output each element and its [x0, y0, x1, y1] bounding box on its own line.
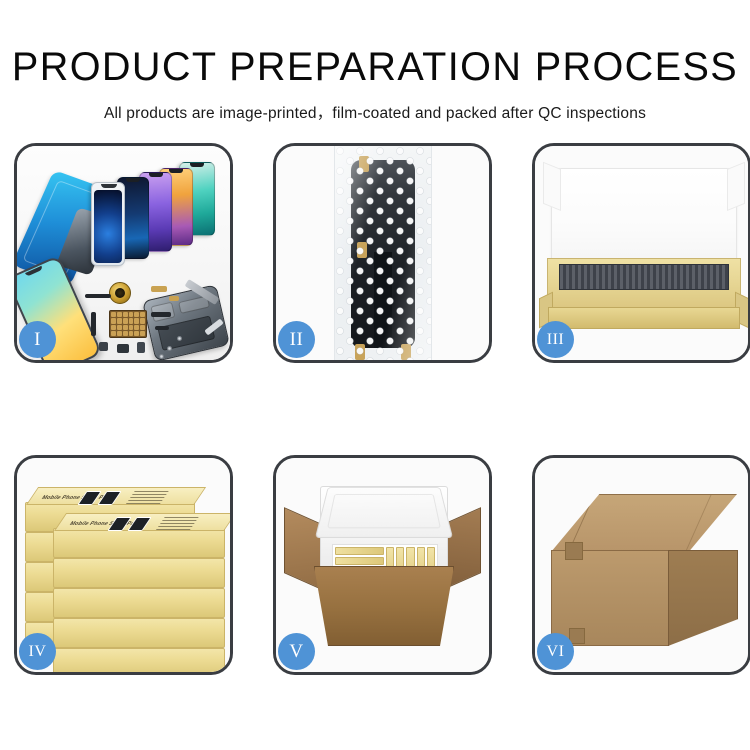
step-panel-3[interactable]: III — [532, 143, 750, 363]
step-badge-3: III — [537, 321, 574, 358]
flex-cable-icon — [91, 312, 96, 336]
small-component-icon — [117, 344, 129, 353]
screw-icon — [159, 354, 164, 359]
step-panel-6[interactable]: VI — [532, 455, 750, 675]
step-panel-1[interactable]: I — [14, 143, 233, 363]
bubble-wrap-bag-icon — [334, 146, 432, 360]
small-component-icon — [99, 342, 108, 351]
step-badge-6: VI — [537, 633, 574, 670]
step-badge-4: IV — [19, 633, 56, 670]
flex-cable-icon — [85, 294, 111, 298]
step-panel-4[interactable]: Mobile Phone Spare Parts Mobile Phone Sp… — [14, 455, 233, 675]
retail-box — [53, 558, 225, 588]
screen-glass-icon — [91, 182, 125, 266]
phone-fan-group — [87, 160, 229, 272]
gold-connector-icon — [169, 296, 179, 301]
step-badge-5: V — [278, 633, 315, 670]
retail-box — [53, 588, 225, 618]
step-badge-2: II — [278, 321, 315, 358]
foam-lid-icon — [315, 487, 453, 538]
flex-cable-icon — [151, 312, 171, 317]
gold-connector-icon — [151, 286, 167, 292]
flex-cable-icon — [155, 326, 169, 330]
page-subtitle: All products are image-printed，film-coat… — [0, 87, 750, 123]
process-step-grid: I II — [14, 143, 736, 675]
retail-box-stack-icon: Mobile Phone Spare Parts Mobile Phone Sp… — [23, 476, 228, 666]
page-title: PRODUCT PREPARATION PROCESS — [4, 0, 747, 87]
product-preparation-infographic: PRODUCT PREPARATION PROCESS All products… — [0, 0, 750, 750]
step-panel-2[interactable]: II — [273, 143, 492, 363]
step-panel-5[interactable]: V — [273, 455, 492, 675]
step-badge-1: I — [19, 321, 56, 358]
carton-tape-icon — [565, 542, 583, 560]
small-component-icon — [137, 342, 145, 353]
retail-box — [53, 648, 225, 675]
retail-box — [53, 618, 225, 648]
screw-icon — [177, 336, 182, 341]
header: PRODUCT PREPARATION PROCESS All products… — [0, 0, 750, 123]
shipping-carton-body-icon — [314, 566, 454, 646]
screw-icon — [167, 346, 172, 351]
speaker-coil-icon — [109, 282, 131, 304]
carton-side-icon — [668, 550, 738, 646]
bubble-wrap-fill-icon — [559, 264, 729, 290]
retail-box: Mobile Phone Spare Parts — [53, 528, 225, 558]
chip-array-icon — [109, 310, 147, 338]
